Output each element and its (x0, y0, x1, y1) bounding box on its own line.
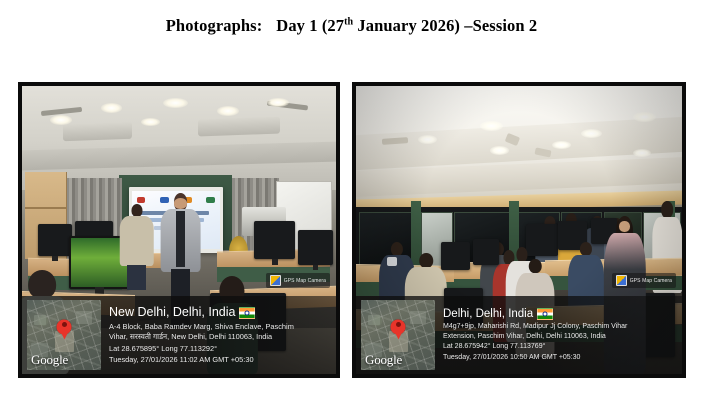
person-head (131, 204, 142, 217)
person-shirt (176, 211, 186, 267)
gps-stamp-right: Google Delhi, Delhi, India M4g7+9jp, Mah… (356, 296, 682, 374)
gps-map-camera-icon (616, 275, 627, 286)
gps-city-line: Delhi, Delhi, India (443, 307, 677, 321)
page-title: Photographs:Day 1 (27th January 2026) –S… (0, 16, 703, 36)
page-title-rest: January 2026) –Session 2 (353, 16, 537, 35)
gps-stamp-text: New Delhi, Delhi, India A-4 Block, Baba … (101, 300, 331, 370)
india-flag-icon (537, 308, 553, 320)
person-face (619, 221, 630, 232)
ceiling-light (163, 98, 188, 108)
page-title-prefix: Photographs: (166, 16, 263, 35)
person-head (391, 242, 403, 257)
page-title-day: Day 1 (27 (276, 16, 344, 35)
gps-stamp-text: Delhi, Delhi, India M4g7+9jp, Maharishi … (435, 300, 677, 370)
person-head (529, 259, 542, 274)
gps-map-camera-watermark: GPS Map Camera (612, 273, 676, 288)
google-map-thumbnail: Google (361, 300, 435, 370)
person-legs (127, 265, 146, 291)
ceiling-light (480, 121, 503, 131)
gps-map-camera-label: GPS Map Camera (630, 278, 672, 284)
person-head (661, 201, 673, 218)
computer-monitor (38, 224, 73, 256)
google-logo: Google (365, 352, 402, 368)
ceiling-light (267, 98, 289, 107)
gps-address-line-1: M4g7+9jp, Maharishi Rd, Madipur Jj Colon… (443, 322, 677, 332)
google-logo: Google (31, 352, 68, 368)
slide-logo-icon (137, 197, 146, 204)
slide-logo-icon (206, 197, 215, 204)
person-head (29, 270, 57, 299)
person-head (580, 242, 592, 256)
ceiling-duct (63, 122, 132, 142)
ceiling-light (50, 115, 72, 125)
gps-coordinates: Lat 28.675942° Long 77.113769° (443, 342, 677, 353)
computer-monitor (254, 221, 295, 258)
computer-monitor (298, 230, 333, 265)
person-standing-assistant (119, 204, 154, 290)
photo-left-content: GPS Map Camera Google New Delhi, Delhi, … (22, 86, 336, 374)
map-block (368, 315, 380, 325)
gps-timestamp: Tuesday, 27/01/2026 10:50 AM GMT +05:30 (443, 353, 677, 364)
photograph-left: GPS Map Camera Google New Delhi, Delhi, … (18, 82, 340, 378)
gps-address-line-2: Extension, Paschim Vihar, Delhi, Delhi 1… (443, 332, 677, 342)
ceiling-duct (198, 116, 280, 136)
photograph-right: GPS Map Camera Google Delhi, Delhi, Indi… (352, 82, 686, 378)
gps-coordinates: Lat 28.675895° Long 77.113292° (109, 343, 331, 354)
gps-city-name: New Delhi, Delhi, India (109, 305, 235, 321)
map-block (410, 311, 426, 324)
gps-map-camera-label: GPS Map Camera (284, 278, 326, 284)
gps-city-line: New Delhi, Delhi, India (109, 305, 331, 321)
smartphone (387, 257, 397, 266)
map-block (76, 311, 92, 324)
person-head (419, 253, 433, 268)
google-map-thumbnail: Google (27, 300, 101, 370)
location-pin-icon (57, 319, 72, 334)
photo-right-content: GPS Map Camera Google Delhi, Delhi, Indi… (356, 86, 682, 374)
gps-stamp-left: Google New Delhi, Delhi, India A-4 Block… (22, 296, 336, 374)
location-pin-icon (391, 319, 406, 334)
ceiling-light (217, 106, 239, 116)
page-title-ordinal-suffix: th (344, 17, 353, 28)
gps-map-camera-watermark: GPS Map Camera (266, 273, 330, 288)
india-flag-icon (239, 307, 255, 319)
computer-monitor (473, 239, 499, 265)
gps-map-camera-icon (270, 275, 281, 286)
gps-timestamp: Tuesday, 27/01/2026 11:02 AM GMT +05:30 (109, 354, 331, 365)
gps-address-line-1: A-4 Block, Baba Ramdev Marg, Shiva Encla… (109, 322, 331, 333)
person-body (119, 216, 154, 266)
map-block (34, 315, 46, 325)
gps-address-line-2: Vihar, सरस्वती गार्डन, New Delhi, Delhi … (109, 332, 331, 343)
gps-city-name: Delhi, Delhi, India (443, 307, 533, 321)
